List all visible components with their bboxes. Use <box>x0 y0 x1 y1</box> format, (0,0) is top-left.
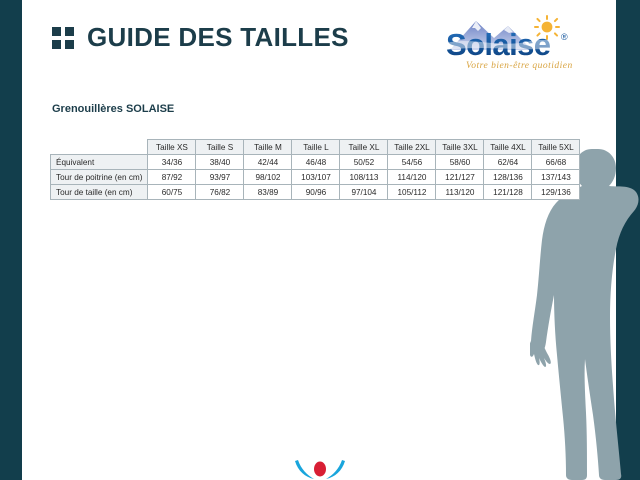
size-table-container: Taille XSTaille STaille MTaille LTaille … <box>50 139 580 200</box>
table-corner-cell <box>51 140 148 155</box>
column-header: Taille XS <box>148 140 196 155</box>
size-guide-page: GUIDE DES TAILLES <box>0 0 640 480</box>
solaise-logo: Solaise ® Votre bien-être quotidien <box>442 10 592 76</box>
column-header: Taille 4XL <box>484 140 532 155</box>
measurement-cell: 66/68 <box>532 155 580 170</box>
measurement-cell: 46/48 <box>292 155 340 170</box>
logo-registered-mark: ® <box>561 32 568 42</box>
table-row: Équivalent34/3638/4042/4446/4850/5254/56… <box>51 155 580 170</box>
measurement-cell: 90/96 <box>292 185 340 200</box>
left-wing-shape <box>295 460 314 479</box>
table-header-row: Taille XSTaille STaille MTaille LTaille … <box>51 140 580 155</box>
row-label: Équivalent <box>51 155 148 170</box>
table-row: Tour de taille (en cm)60/7576/8283/8990/… <box>51 185 580 200</box>
measurement-cell: 121/128 <box>484 185 532 200</box>
measurement-cell: 76/82 <box>196 185 244 200</box>
measurement-cell: 58/60 <box>436 155 484 170</box>
measurement-cell: 129/136 <box>532 185 580 200</box>
measurement-cell: 50/52 <box>340 155 388 170</box>
measurement-cell: 87/92 <box>148 170 196 185</box>
row-label: Tour de taille (en cm) <box>51 185 148 200</box>
right-edge-bar <box>616 0 640 480</box>
column-header: Taille 3XL <box>436 140 484 155</box>
row-label: Tour de poitrine (en cm) <box>51 170 148 185</box>
measurement-cell: 105/112 <box>388 185 436 200</box>
table-row: Tour de poitrine (en cm)87/9293/9798/102… <box>51 170 580 185</box>
page-title: GUIDE DES TAILLES <box>87 22 349 53</box>
measurement-cell: 97/104 <box>340 185 388 200</box>
measurement-cell: 42/44 <box>244 155 292 170</box>
column-header: Taille XL <box>340 140 388 155</box>
logo-tagline: Votre bien-être quotidien <box>466 61 573 71</box>
measurement-cell: 108/113 <box>340 170 388 185</box>
measurement-cell: 103/107 <box>292 170 340 185</box>
grid-2x2-icon <box>52 27 74 49</box>
size-table: Taille XSTaille STaille MTaille LTaille … <box>50 139 580 200</box>
column-header: Taille 5XL <box>532 140 580 155</box>
measurement-cell: 98/102 <box>244 170 292 185</box>
column-header: Taille L <box>292 140 340 155</box>
wings-and-dot-ornament <box>285 454 355 480</box>
left-edge-bar <box>0 0 22 480</box>
measurement-cell: 62/64 <box>484 155 532 170</box>
measurement-cell: 34/36 <box>148 155 196 170</box>
measurement-cell: 60/75 <box>148 185 196 200</box>
measurement-cell: 54/56 <box>388 155 436 170</box>
measurement-cell: 93/97 <box>196 170 244 185</box>
measurement-cell: 113/120 <box>436 185 484 200</box>
table-body: Équivalent34/3638/4042/4446/4850/5254/56… <box>51 155 580 200</box>
measurement-cell: 121/127 <box>436 170 484 185</box>
page-header: GUIDE DES TAILLES <box>52 22 349 53</box>
measurement-cell: 137/143 <box>532 170 580 185</box>
measurement-cell: 128/136 <box>484 170 532 185</box>
center-dot-shape <box>314 462 326 477</box>
column-header: Taille S <box>196 140 244 155</box>
measurement-cell: 83/89 <box>244 185 292 200</box>
column-header: Taille 2XL <box>388 140 436 155</box>
measurement-cell: 114/120 <box>388 170 436 185</box>
right-wing-shape <box>326 460 345 479</box>
section-subtitle: Grenouillères SOLAISE <box>52 103 174 115</box>
measurement-cell: 38/40 <box>196 155 244 170</box>
column-header: Taille M <box>244 140 292 155</box>
